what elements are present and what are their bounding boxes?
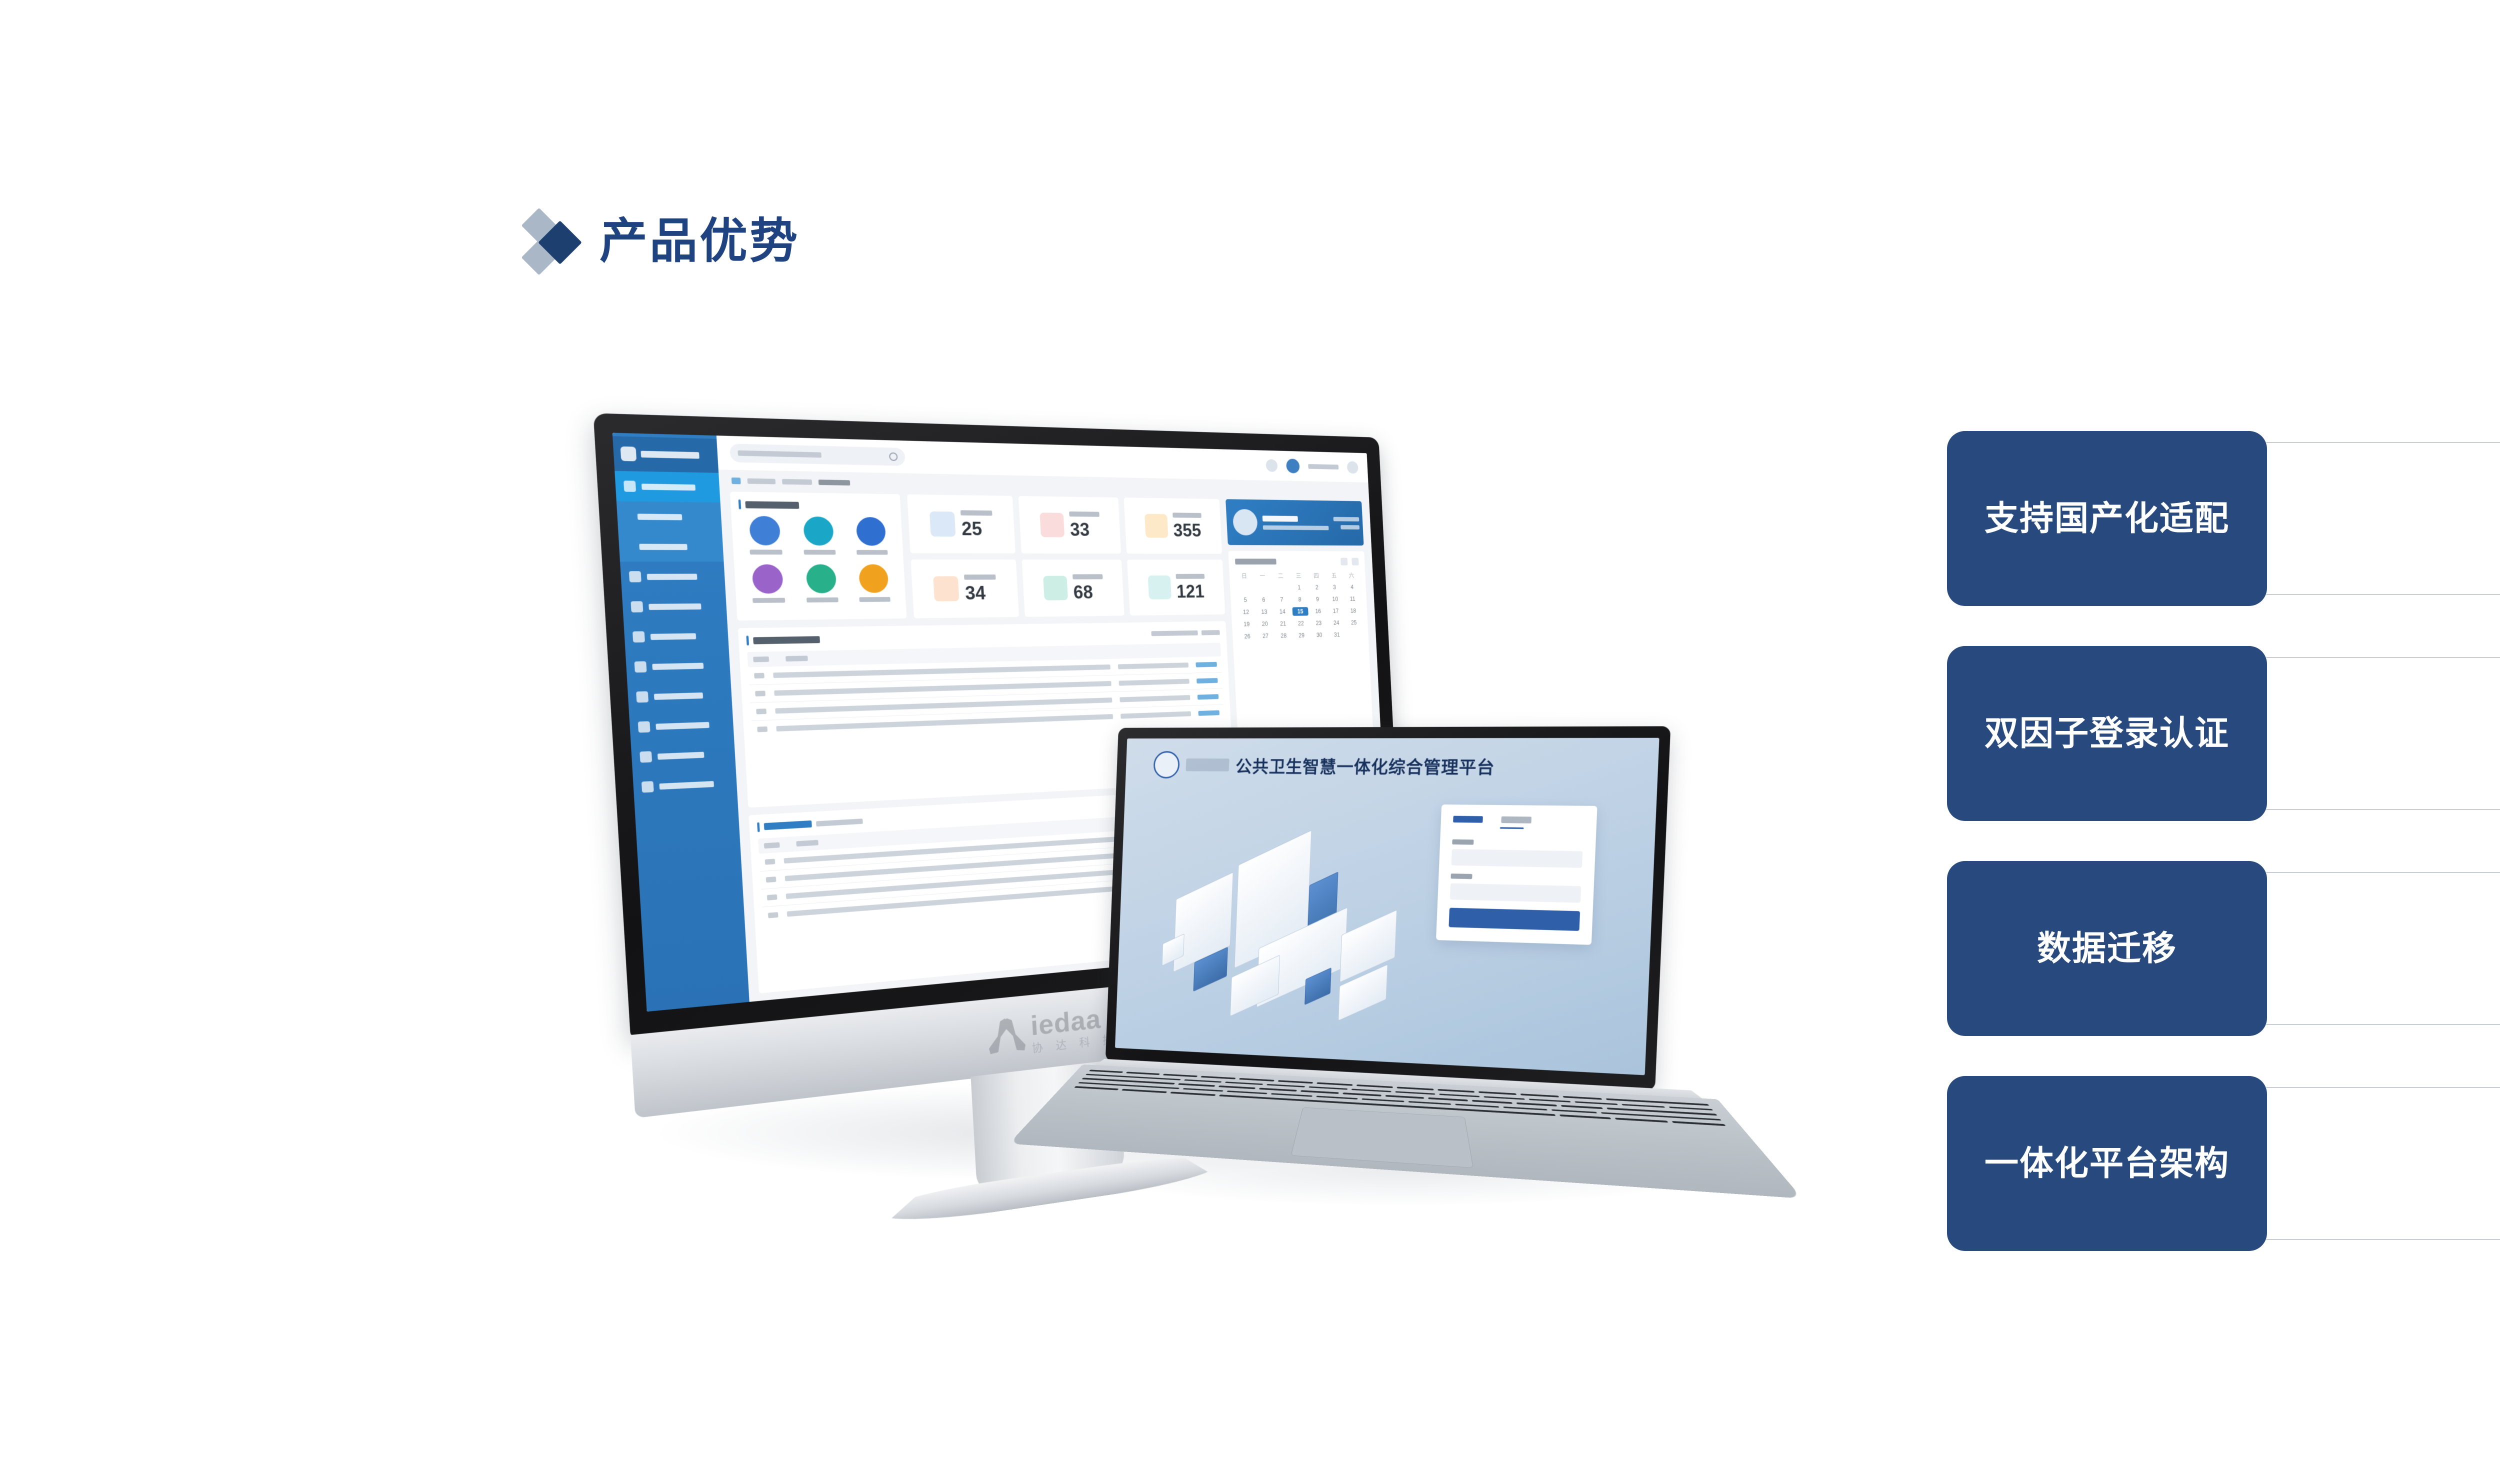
- key: [1126, 1071, 1160, 1074]
- calendar-empty-cell: [1254, 583, 1271, 592]
- key: [1259, 1088, 1297, 1091]
- feature-tag-label-4: 一体化平台架构: [1984, 1146, 2229, 1180]
- sidebar-label-6: [654, 692, 703, 699]
- sidebar-subitem-1[interactable]: [616, 501, 722, 532]
- sidebar-item-8[interactable]: [631, 738, 736, 772]
- key: [1478, 1091, 1516, 1095]
- calendar-weekday-header: 三: [1290, 571, 1306, 579]
- breadcrumb-item-3: [818, 479, 850, 485]
- calendar-grid: 日一二三四五六123456789101112131415161718192021…: [1235, 571, 1362, 641]
- key: [1408, 1101, 1451, 1105]
- user-avatar: [1232, 509, 1258, 535]
- quick-entry-icon-5: [805, 564, 836, 593]
- key: [1472, 1100, 1512, 1104]
- power-icon[interactable]: [1347, 461, 1358, 473]
- password-input[interactable]: [1450, 883, 1581, 902]
- done-task-tab-2[interactable]: [816, 818, 863, 826]
- stat-label-1: [960, 510, 992, 515]
- key: [1300, 1090, 1338, 1093]
- avatar[interactable]: [1286, 458, 1300, 473]
- calendar-day-cell[interactable]: 3: [1326, 583, 1343, 591]
- row-date: [1119, 679, 1189, 686]
- quick-entry-title-text: [745, 501, 799, 508]
- stat-value-3: 355: [1173, 521, 1202, 539]
- row-date: [1118, 662, 1188, 669]
- key-alt-right: [1559, 1114, 1611, 1119]
- key-arrow: [1671, 1121, 1726, 1126]
- feature-tag-label-1: 支持国产化适配: [1984, 501, 2229, 535]
- calendar-header: [1235, 557, 1359, 565]
- key: [1439, 1093, 1479, 1097]
- login-tab-underline: [1500, 827, 1524, 829]
- username-input[interactable]: [1451, 849, 1583, 868]
- key: [1183, 1088, 1223, 1092]
- stat-label-2: [1069, 511, 1099, 517]
- key: [1317, 1082, 1353, 1086]
- calendar-empty-cell: [1273, 583, 1289, 592]
- sidebar-label-4: [650, 633, 696, 640]
- key: [1309, 1086, 1348, 1089]
- feature-tag-4[interactable]: 一体化平台架构: [1947, 1076, 2267, 1251]
- calendar-weekday-header: 五: [1326, 571, 1342, 579]
- device-showcase: 25 33: [620, 430, 1820, 1280]
- calendar-day-cell[interactable]: 14: [1274, 607, 1290, 616]
- stat-label-3: [1172, 512, 1201, 517]
- calendar-day-cell[interactable]: 12: [1237, 607, 1254, 616]
- password-label: [1450, 873, 1472, 879]
- dashboard-search-input[interactable]: [729, 443, 905, 466]
- stat-card-6: 121: [1127, 559, 1225, 615]
- quick-entry-label-2: [803, 550, 835, 555]
- key: [1342, 1092, 1381, 1096]
- key: [1455, 1103, 1499, 1107]
- search-placeholder: [737, 450, 821, 458]
- brand-mark-icon: [988, 1016, 1025, 1055]
- calendar-prev-button[interactable]: [1340, 558, 1347, 565]
- row-date: [1119, 695, 1190, 702]
- feature-tag-label-3: 数据迁移: [2037, 931, 2177, 965]
- key-ctrl: [1074, 1086, 1119, 1090]
- key: [1385, 1095, 1424, 1099]
- stat-icon-3: [1144, 514, 1168, 538]
- notification-icon[interactable]: [1265, 459, 1277, 472]
- title-accent-bar: [757, 822, 760, 832]
- laptop-trackpad[interactable]: [1290, 1107, 1473, 1168]
- feature-card-1: 适配国产化浏览器、数据库、操作系统、中间件 支持国产化适配: [1947, 431, 2500, 606]
- quick-entry-icon-6: [858, 564, 889, 593]
- calendar-day-cell[interactable]: 13: [1256, 607, 1273, 616]
- stat-label-6: [1175, 574, 1204, 579]
- calendar-day-cell[interactable]: 15: [1292, 607, 1308, 616]
- login-body: [1115, 792, 1657, 1075]
- calendar-day-cell[interactable]: 29: [1293, 631, 1310, 640]
- stat-label-4: [964, 574, 996, 580]
- calendar-day-cell[interactable]: 8: [1291, 595, 1308, 604]
- sidebar-label-8: [657, 751, 704, 759]
- feature-tag-3[interactable]: 数据迁移: [1947, 861, 2267, 1036]
- key: [1428, 1097, 1467, 1101]
- user-date: [1333, 517, 1359, 521]
- quick-entry-icon-2: [803, 516, 834, 545]
- key: [1271, 1093, 1312, 1097]
- calendar-day-cell[interactable]: 22: [1292, 619, 1309, 628]
- stat-value-2: 33: [1069, 520, 1100, 539]
- stat-card-5: 68: [1021, 559, 1124, 617]
- calendar-day-cell[interactable]: 6: [1255, 595, 1272, 604]
- pending-task-title-text: [753, 636, 820, 644]
- dashboard-logo: [612, 436, 718, 473]
- quick-entry-label-4: [752, 598, 785, 603]
- key: [1089, 1069, 1123, 1072]
- key: [1316, 1095, 1358, 1099]
- key: [1225, 1081, 1263, 1085]
- col-name: [796, 839, 818, 846]
- key: [1483, 1096, 1525, 1100]
- sidebar-item-1[interactable]: [614, 471, 720, 502]
- breadcrumb-home-icon: [731, 477, 741, 484]
- quick-entry-label-6: [859, 597, 890, 602]
- stat-card-3: 355: [1124, 497, 1222, 553]
- sidebar-item-5[interactable]: [625, 650, 730, 682]
- sidebar-sublabel-1: [637, 513, 682, 520]
- sidebar-item-7[interactable]: [629, 709, 734, 742]
- user-org: [1263, 525, 1329, 530]
- key: [1277, 1080, 1313, 1083]
- calendar-day-cell[interactable]: 7: [1273, 595, 1290, 604]
- stat-icon-1: [929, 511, 955, 536]
- user-weather: [1340, 525, 1359, 529]
- calendar-weekday-header: 四: [1308, 571, 1324, 579]
- key: [1395, 1091, 1435, 1095]
- login-header: 公共卫生智慧一体化综合管理平台: [1125, 738, 1659, 781]
- calendar-month-label: [1235, 558, 1276, 564]
- login-form: [1436, 804, 1597, 945]
- stat-grid: 25 33: [907, 494, 1225, 618]
- calendar-day-cell[interactable]: 21: [1274, 619, 1291, 628]
- calendar-weekday-header: 一: [1254, 571, 1271, 580]
- sidebar-label-1: [641, 483, 695, 490]
- slide-root: 产品优势: [0, 0, 2500, 1484]
- key: [1356, 1084, 1392, 1088]
- sidebar-icon-5: [634, 661, 647, 672]
- stat-card-2: 33: [1018, 496, 1121, 553]
- sidebar-label-2: [647, 573, 697, 579]
- key: [1516, 1102, 1557, 1106]
- breadcrumb-item-2[interactable]: [782, 479, 812, 485]
- calendar-day-cell[interactable]: 28: [1275, 631, 1292, 640]
- quick-entry-3[interactable]: [847, 517, 896, 555]
- breadcrumb-item-1[interactable]: [747, 478, 776, 484]
- sidebar-icon-2: [629, 571, 641, 582]
- key-arrow: [1615, 1118, 1668, 1123]
- user-profile-card: [1225, 499, 1363, 545]
- key: [1266, 1084, 1305, 1087]
- stat-icon-5: [1043, 576, 1068, 600]
- sidebar-icon-8: [639, 751, 652, 762]
- calendar-empty-cell: [1236, 583, 1253, 592]
- calendar-day-cell[interactable]: 26: [1239, 632, 1256, 641]
- calendar-day-cell[interactable]: 24: [1328, 618, 1344, 627]
- calendar-day-cell[interactable]: 18: [1345, 606, 1361, 615]
- sidebar-item-2[interactable]: [620, 561, 725, 591]
- sidebar-item-4[interactable]: [623, 620, 729, 652]
- calendar-day-cell[interactable]: 9: [1309, 595, 1326, 603]
- feature-tag-1[interactable]: 支持国产化适配: [1947, 431, 2267, 606]
- calendar-day-cell[interactable]: 10: [1327, 595, 1343, 603]
- row-status: [1196, 678, 1218, 683]
- sidebar-icon-6: [636, 691, 648, 702]
- feature-card-3: 可把原系统数据迁移至现有系统 数据迁移: [1947, 861, 2500, 1036]
- quick-entry-4[interactable]: [742, 564, 793, 603]
- key-fn: [1121, 1089, 1167, 1093]
- calendar-day-cell[interactable]: 5: [1237, 595, 1254, 604]
- key: [1163, 1074, 1197, 1077]
- pending-task-title: [746, 628, 1220, 645]
- login-tab-account[interactable]: [1453, 816, 1483, 823]
- row-index: [757, 726, 767, 732]
- sidebar-label-5: [652, 662, 703, 669]
- page-title-block: 产品优势: [522, 210, 799, 273]
- calendar-day-cell[interactable]: 16: [1310, 607, 1326, 616]
- sidebar-icon-9: [641, 781, 654, 792]
- login-submit-button[interactable]: [1448, 907, 1580, 930]
- col-name: [785, 655, 808, 661]
- calendar-weekday-header: 日: [1235, 571, 1252, 580]
- key: [1668, 1106, 1713, 1110]
- sidebar-icon-3: [630, 601, 643, 612]
- dashboard-logo-text: [640, 451, 699, 459]
- diamond-cluster-icon: [522, 210, 577, 273]
- isometric-illustration: [1116, 792, 1442, 1018]
- key: [1184, 1079, 1222, 1082]
- row-index: [756, 708, 766, 714]
- key: [1226, 1090, 1267, 1094]
- quick-entry-label-5: [806, 597, 838, 602]
- key: [1397, 1086, 1433, 1090]
- key: [1362, 1098, 1404, 1102]
- calendar-day-cell[interactable]: 27: [1257, 631, 1274, 640]
- sidebar-sublabel-2: [639, 543, 687, 549]
- key: [1437, 1089, 1475, 1092]
- calendar-next-button[interactable]: [1351, 558, 1358, 565]
- row-status: [1195, 662, 1217, 667]
- col-index: [753, 656, 769, 662]
- cdc-logo-icon: [1153, 751, 1180, 778]
- feature-card-4: 实现所有功能模块在同一平台运行 一体化平台架构: [1947, 1076, 2500, 1251]
- quick-entry-label-1: [749, 549, 782, 554]
- quick-entry-icon-1: [748, 516, 780, 545]
- row-index: [766, 876, 776, 882]
- calendar-day-cell[interactable]: 31: [1329, 630, 1345, 639]
- quick-entry-6[interactable]: [849, 564, 898, 602]
- quick-entry-label-3: [856, 550, 888, 555]
- quick-entry-grid: [739, 516, 898, 603]
- stat-icon-4: [933, 576, 959, 601]
- stat-icon-6: [1147, 575, 1171, 599]
- stat-value-5: 68: [1073, 583, 1104, 601]
- page-title: 产品优势: [599, 217, 799, 265]
- stat-value-6: 121: [1176, 582, 1205, 600]
- row-index: [767, 894, 777, 900]
- login-page-title: 公共卫生智慧一体化综合管理平台: [1235, 753, 1495, 778]
- calendar-day-cell[interactable]: 19: [1238, 620, 1255, 629]
- calendar-day-cell[interactable]: 25: [1346, 618, 1362, 627]
- pending-task-col-status: [1201, 630, 1220, 635]
- key: [1520, 1093, 1559, 1097]
- sidebar-icon-4: [632, 631, 645, 642]
- sidebar-subitem-2[interactable]: [618, 531, 723, 561]
- calendar-weekday-header: 六: [1343, 571, 1359, 579]
- key: [1239, 1078, 1274, 1081]
- title-accent-bar: [738, 499, 741, 509]
- stat-icon-2: [1039, 512, 1064, 537]
- quick-entry-title: [738, 499, 893, 511]
- calendar-day-cell[interactable]: 11: [1344, 594, 1360, 603]
- stat-value-4: 34: [964, 584, 997, 603]
- quick-entry-5[interactable]: [796, 564, 846, 603]
- feature-card-list: 适配国产化浏览器、数据库、操作系统、中间件 支持国产化适配 确保访问安全性 双因…: [1947, 431, 2500, 1251]
- sidebar-item-3[interactable]: [622, 591, 727, 622]
- feature-tag-2[interactable]: 双因子登录认证: [1947, 646, 2267, 821]
- user-name-label: [1308, 464, 1338, 469]
- pending-task-col-time: [1151, 630, 1197, 636]
- user-name: [1262, 515, 1298, 521]
- sidebar-icon-7: [638, 721, 650, 732]
- laptop-screen: 公共卫生智慧一体化综合管理平台: [1115, 738, 1659, 1075]
- row-status: [1197, 694, 1219, 699]
- sidebar-label-9: [659, 780, 714, 789]
- feature-tag-label-2: 双因子登录认证: [1984, 716, 2229, 750]
- quick-entry-2[interactable]: [793, 516, 843, 555]
- key: [1218, 1085, 1256, 1089]
- stat-card-1: 25: [907, 494, 1015, 553]
- row-date: [1120, 711, 1191, 718]
- key: [1561, 1105, 1603, 1109]
- key: [1621, 1104, 1665, 1108]
- quick-entry-icon-3: [856, 517, 886, 546]
- stat-label-5: [1072, 574, 1103, 579]
- laptop-lid: 公共卫生智慧一体化综合管理平台: [1105, 726, 1671, 1090]
- key: [1562, 1096, 1602, 1099]
- quick-entry-panel: [730, 491, 906, 620]
- col-index: [764, 842, 780, 848]
- org-name-redacted: [1186, 758, 1229, 771]
- sidebar-label-3: [648, 603, 701, 609]
- dashboard-logo-icon: [620, 446, 637, 461]
- sidebar-icon-1: [623, 480, 636, 492]
- row-index: [755, 690, 765, 696]
- search-icon: [889, 452, 898, 461]
- calendar-day-cell[interactable]: 1: [1291, 583, 1307, 591]
- key: [1574, 1101, 1617, 1105]
- login-tabs: [1453, 816, 1584, 824]
- done-task-tab-active[interactable]: [764, 820, 812, 830]
- calendar-day-cell[interactable]: 20: [1256, 619, 1273, 628]
- row-index: [768, 912, 778, 918]
- sidebar-item-6[interactable]: [627, 679, 732, 712]
- key: [1551, 1109, 1597, 1113]
- quick-entry-icon-4: [751, 564, 783, 594]
- quick-entry-1[interactable]: [739, 516, 790, 555]
- calendar-weekday-header: 二: [1272, 571, 1288, 579]
- row-index: [765, 858, 775, 864]
- sidebar-label-7: [655, 721, 709, 729]
- feature-card-2: 确保访问安全性 双因子登录认证: [1947, 646, 2500, 821]
- sidebar-item-9[interactable]: [632, 768, 737, 802]
- iso-building-5: [1339, 909, 1397, 982]
- calendar-day-cell[interactable]: 4: [1344, 583, 1360, 591]
- key: [1201, 1076, 1236, 1079]
- username-label: [1452, 839, 1473, 845]
- title-accent-bar: [746, 635, 749, 645]
- stat-card-4: 34: [910, 559, 1018, 618]
- row-content: [773, 664, 1110, 678]
- key: [1351, 1088, 1391, 1092]
- login-tab-sms[interactable]: [1501, 816, 1531, 823]
- calendar-day-cell[interactable]: 17: [1327, 606, 1344, 615]
- key: [1503, 1106, 1547, 1110]
- calendar-day-cell[interactable]: 23: [1310, 618, 1327, 627]
- laptop-device: 公共卫生智慧一体化综合管理平台: [1070, 726, 1743, 1222]
- calendar-day-cell[interactable]: 2: [1308, 583, 1325, 591]
- row-status: [1198, 710, 1219, 715]
- key-alt: [1170, 1092, 1216, 1096]
- stat-value-1: 25: [961, 519, 993, 538]
- row-index: [754, 673, 764, 678]
- key: [1178, 1083, 1215, 1086]
- calendar-day-cell[interactable]: 30: [1311, 630, 1327, 639]
- key: [1529, 1098, 1571, 1102]
